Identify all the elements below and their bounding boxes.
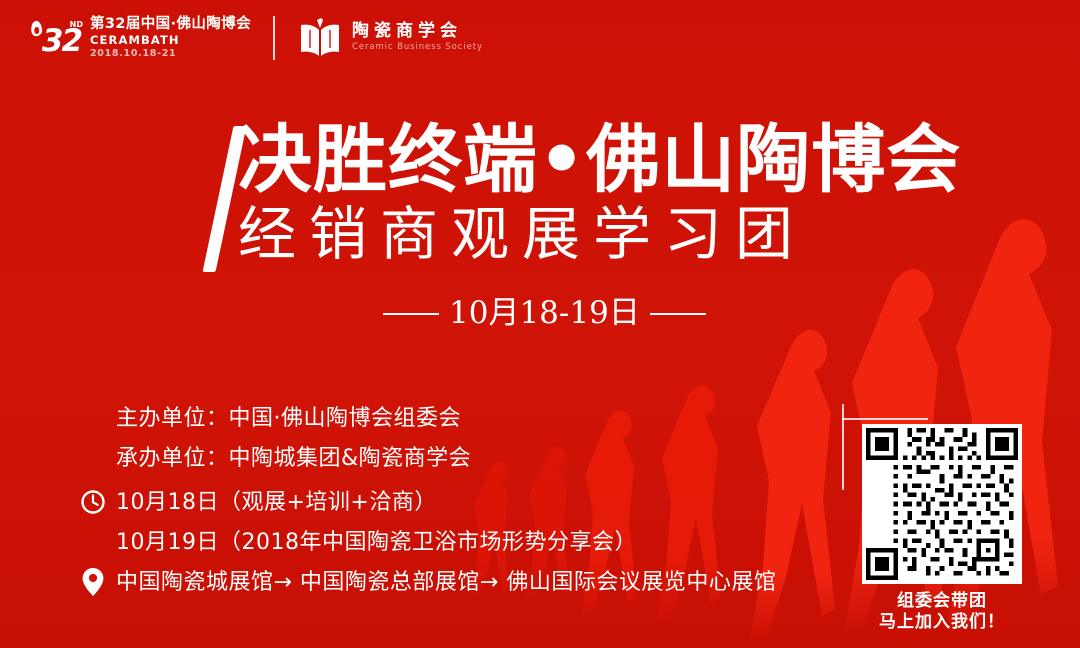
anniversary-ordinal: ND <box>70 20 83 29</box>
hero-line-1: 决胜终端•佛山陶博会 <box>238 122 961 199</box>
hero-line-2: 经销商观展学习团 <box>238 203 961 266</box>
hero-date-text: 10月18-19日 <box>449 298 640 329</box>
schedule-text-1: 10月18日（观展+培训+洽商） <box>116 488 437 518</box>
info-block: 主办单位：中国·佛山陶博会组委会 承办单位：中陶城集团&陶瓷商学会 10月18日… <box>78 404 776 603</box>
qr-code[interactable] <box>862 424 1022 584</box>
dateline-rule-left <box>383 313 439 315</box>
poster-canvas: 32 ND 第32届中国·佛山陶博会 CERAMBATH 2018.10.18-… <box>0 0 1080 648</box>
ceramic-business-society-logo: 陶瓷商学会 Ceramic Business Society <box>297 18 483 58</box>
schedule-row-2: 10月19日（2018年中国陶瓷卫浴市场形势分享会） <box>78 523 776 561</box>
cerambath-dates: 2018.10.18-21 <box>90 48 251 60</box>
schedule-text-2: 10月19日（2018年中国陶瓷卫浴市场形势分享会） <box>116 528 637 558</box>
society-title-en: Ceramic Business Society <box>352 42 483 54</box>
qr-caption-line-1: 组委会带团 <box>862 591 1022 612</box>
co-organizer-line: 承办单位：中陶城集团&陶瓷商学会 <box>116 444 776 474</box>
society-title-cn: 陶瓷商学会 <box>352 22 483 42</box>
clock-icon <box>78 486 108 518</box>
qr-caption: 组委会带团 马上加入我们！ <box>862 591 1022 634</box>
cerambath-title-en: CERAMBATH <box>90 33 251 48</box>
hero-headline: 决胜终端•佛山陶博会 经销商观展学习团 <box>210 122 961 266</box>
organizer-line: 主办单位：中国·佛山陶博会组委会 <box>116 404 776 434</box>
location-pin-icon <box>78 566 108 598</box>
schedule-row-1: 10月18日（观展+培训+洽商） <box>78 483 776 521</box>
open-book-icon <box>297 18 343 58</box>
venue-text: 中国陶瓷城展馆→ 中国陶瓷总部展馆→ 佛山国际会议展览中心展馆 <box>116 568 776 598</box>
cerambath-logo: 32 ND 第32届中国·佛山陶博会 CERAMBATH 2018.10.18-… <box>30 15 251 60</box>
header-logo-bar: 32 ND 第32届中国·佛山陶博会 CERAMBATH 2018.10.18-… <box>30 12 483 64</box>
cerambath-title-cn: 第32届中国·佛山陶博会 <box>90 15 251 33</box>
venue-row: 中国陶瓷城展馆→ 中国陶瓷总部展馆→ 佛山国际会议展览中心展馆 <box>78 563 776 601</box>
hero-dateline: 10月18-19日 <box>383 298 706 329</box>
anniversary-32-mark: 32 ND <box>30 19 82 57</box>
logo-divider <box>273 16 275 60</box>
qr-caption-line-2: 马上加入我们！ <box>862 612 1022 633</box>
qr-zone: 组委会带团 马上加入我们！ <box>862 424 1022 634</box>
dateline-rule-right <box>650 313 706 315</box>
